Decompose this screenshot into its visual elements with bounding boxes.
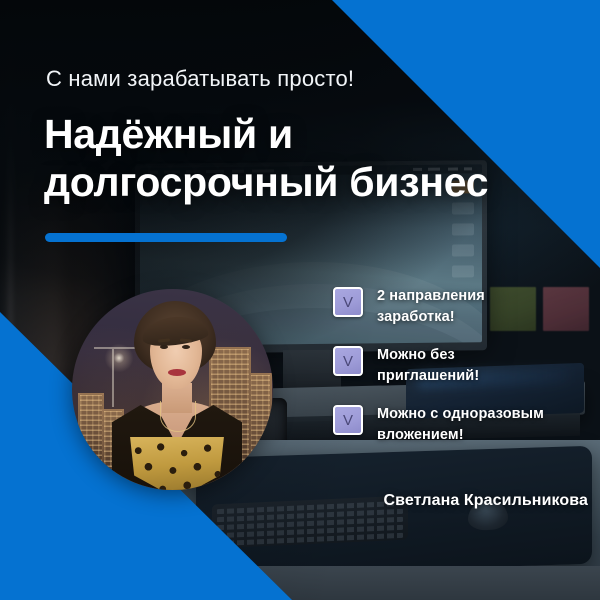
construction-crane <box>112 349 114 407</box>
feature-label: 2 направления заработка! <box>377 286 485 328</box>
feature-label: Можно с одноразовым вложением! <box>377 404 544 446</box>
feature-label: Можно без приглашений! <box>377 345 479 387</box>
list-item: V 2 направления заработка! <box>333 286 595 328</box>
author-name: Светлана Красильникова <box>336 492 588 510</box>
page-title: Надёжный и долгосрочный бизнес <box>44 110 488 207</box>
list-item: V Можно с одноразовым вложением! <box>333 404 595 446</box>
feature-list: V 2 направления заработка! V Можно без п… <box>333 286 595 461</box>
checkbox-check-icon: V <box>333 346 363 376</box>
portrait-necklace <box>160 401 196 432</box>
accent-underline-rule <box>45 233 287 242</box>
checkbox-glyph: V <box>343 295 353 310</box>
tagline: С нами зарабатывать просто! <box>46 66 354 92</box>
city-building <box>78 393 104 463</box>
avatar <box>72 289 273 490</box>
checkbox-check-icon: V <box>333 405 363 435</box>
checkbox-check-icon: V <box>333 287 363 317</box>
portrait-eye <box>182 345 190 349</box>
checkbox-glyph: V <box>343 413 353 428</box>
promo-poster: С нами зарабатывать просто! Надёжный и д… <box>0 0 600 600</box>
list-item: V Можно без приглашений! <box>333 345 595 387</box>
checkbox-glyph: V <box>343 354 353 369</box>
portrait-eye <box>160 345 168 349</box>
portrait-lips <box>168 369 186 376</box>
